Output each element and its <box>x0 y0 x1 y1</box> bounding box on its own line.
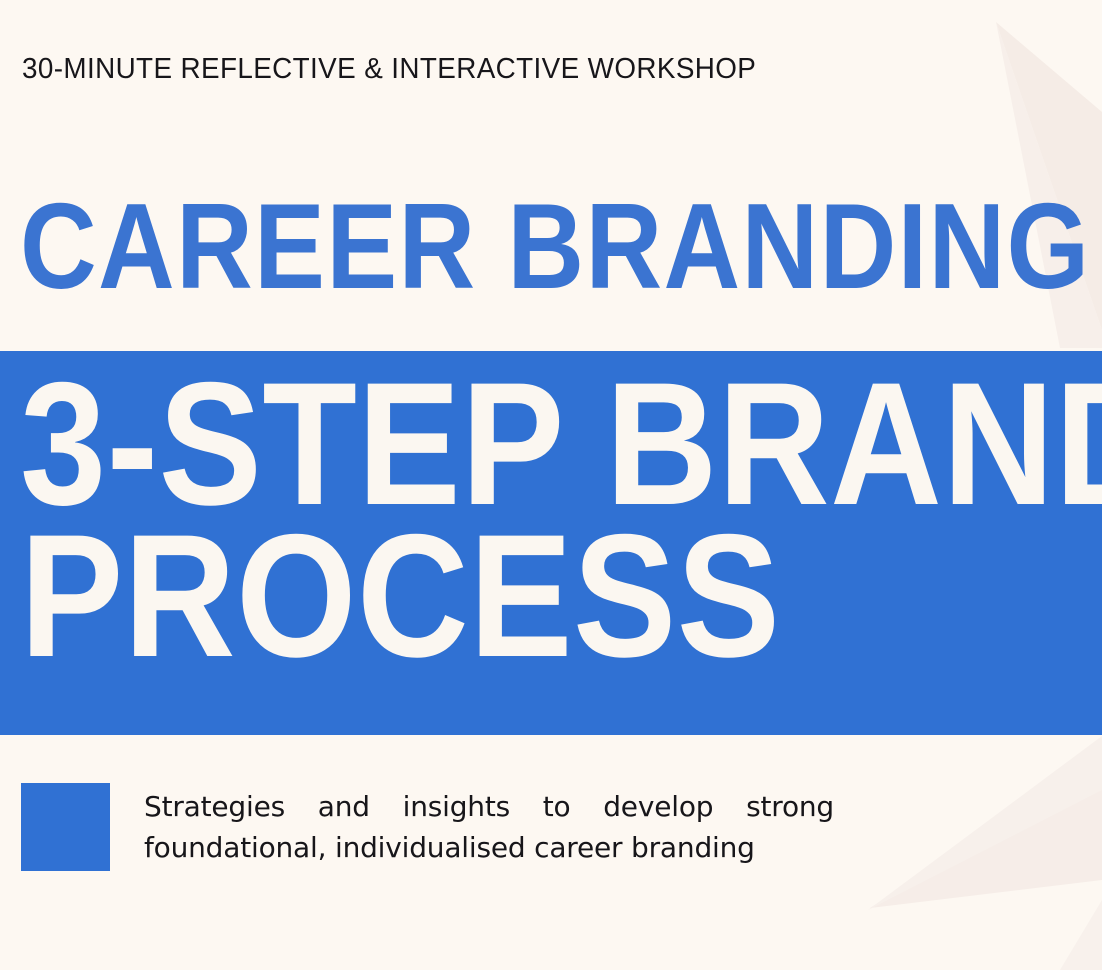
headline-group: 3-STEP BRANDING PROCESS <box>20 369 1102 673</box>
wedge-bottom-far-right-icon <box>1060 900 1102 970</box>
slide-canvas: 30-MINUTE REFLECTIVE & INTERACTIVE WORKS… <box>0 0 1102 970</box>
description-line-2: foundational, individualised career bran… <box>144 827 834 868</box>
page-title: CAREER BRANDING <box>20 186 1090 308</box>
workshop-kicker: 30-MINUTE REFLECTIVE & INTERACTIVE WORKS… <box>22 53 756 86</box>
headline-line-2: PROCESS <box>20 521 1102 673</box>
wedge-bottom-right-icon <box>870 758 1102 908</box>
slide-description: Strategies and insights to develop stron… <box>144 786 834 868</box>
accent-swatch <box>21 783 110 871</box>
description-line-1: Strategies and insights to develop stron… <box>144 786 834 827</box>
headline-band: 3-STEP BRANDING PROCESS <box>0 351 1102 735</box>
wedge-bottom-right-secondary-icon <box>868 736 1102 910</box>
